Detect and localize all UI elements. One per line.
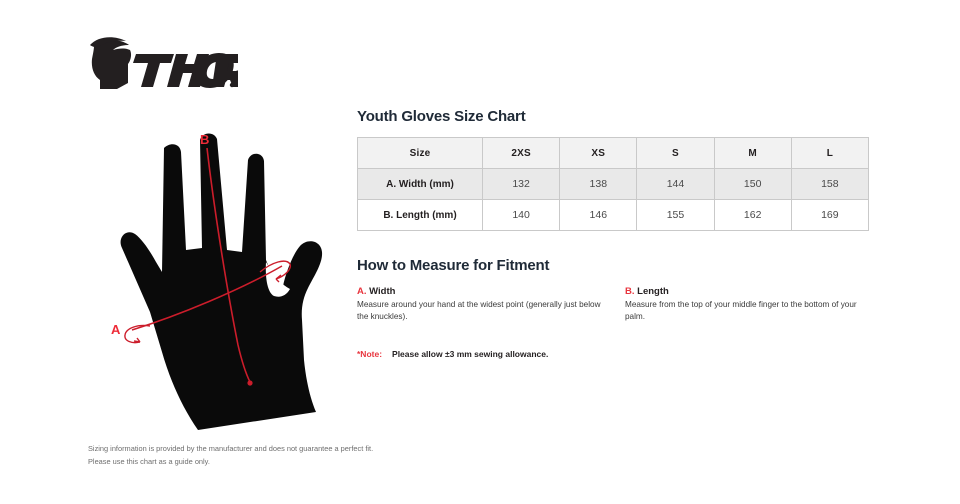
measure-name-width: Width (369, 286, 395, 297)
hand-measurement-illustration: B A (90, 130, 340, 435)
measure-item-width-heading: A. Width (357, 286, 625, 297)
footer-line-1: Sizing information is provided by the ma… (88, 443, 373, 456)
cell-length-2xs: 140 (483, 200, 560, 231)
cell-width-m: 150 (714, 169, 791, 200)
measure-item-width: A. Width Measure around your hand at the… (357, 286, 625, 323)
measure-item-length-heading: B. Length (625, 286, 870, 297)
hand-silhouette-svg: B A (90, 130, 340, 435)
sewing-allowance-note: *Note:Please allow ±3 mm sewing allowanc… (357, 349, 872, 359)
measure-endpoint-b (247, 380, 252, 385)
cell-width-l: 158 (791, 169, 868, 200)
measure-desc-width: Measure around your hand at the widest p… (357, 299, 607, 323)
cell-length-xs: 146 (560, 200, 637, 231)
measure-marker-b: B. (625, 286, 635, 297)
footer-disclaimer: Sizing information is provided by the ma… (88, 443, 373, 469)
measure-name-length: Length (637, 286, 669, 297)
column-header-l: L (791, 138, 868, 169)
size-chart-title: Youth Gloves Size Chart (357, 108, 872, 125)
measure-label-b: B (200, 132, 209, 147)
cell-length-s: 155 (637, 200, 714, 231)
row-label-width: A. Width (mm) (358, 169, 483, 200)
note-marker: *Note: (357, 349, 382, 359)
cell-width-2xs: 132 (483, 169, 560, 200)
row-label-length: B. Length (mm) (358, 200, 483, 231)
footer-line-2: Please use this chart as a guide only. (88, 456, 373, 469)
cell-width-xs: 138 (560, 169, 637, 200)
how-to-measure-title: How to Measure for Fitment (357, 257, 872, 274)
table-row: A. Width (mm) 132 138 144 150 158 (358, 169, 869, 200)
column-header-m: M (714, 138, 791, 169)
column-header-2xs: 2XS (483, 138, 560, 169)
hand-silhouette-shape (121, 133, 323, 430)
table-row: B. Length (mm) 140 146 155 162 169 (358, 200, 869, 231)
measure-marker-a: A. (357, 286, 367, 297)
note-text: Please allow ±3 mm sewing allowance. (392, 349, 548, 359)
measure-item-length: B. Length Measure from the top of your m… (625, 286, 870, 323)
cell-width-s: 144 (637, 169, 714, 200)
size-chart-table: Size 2XS XS S M L A. Width (mm) 132 138 … (357, 137, 869, 231)
cell-length-m: 162 (714, 200, 791, 231)
cell-length-l: 169 (791, 200, 868, 231)
measure-desc-length: Measure from the top of your middle fing… (625, 299, 875, 323)
column-header-s: S (637, 138, 714, 169)
thor-helmet-logo-icon (88, 36, 238, 94)
thor-brand-logo (88, 36, 238, 94)
measure-label-a: A (111, 322, 121, 337)
table-header-row: Size 2XS XS S M L (358, 138, 869, 169)
how-to-measure-grid: A. Width Measure around your hand at the… (357, 286, 872, 323)
column-header-xs: XS (560, 138, 637, 169)
column-header-size: Size (358, 138, 483, 169)
